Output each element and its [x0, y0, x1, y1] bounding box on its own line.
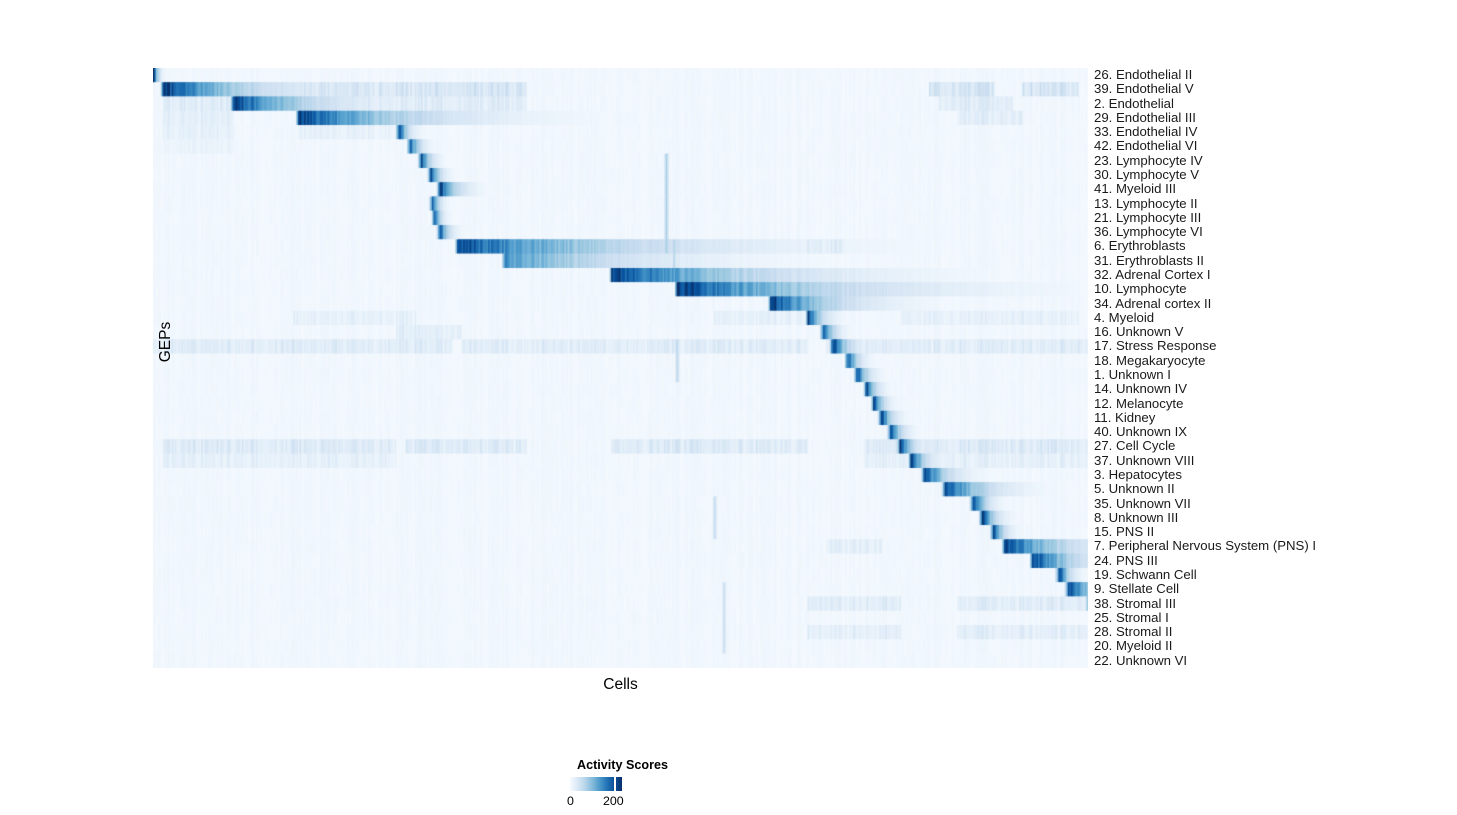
colorbar-wrap: 0 200 — [570, 777, 622, 791]
row-label: 36. Lymphocyte VI — [1094, 225, 1203, 239]
row-label: 32. Adrenal Cortex I — [1094, 268, 1211, 282]
colorbar-tick-low — [570, 777, 572, 791]
row-label: 20. Myeloid II — [1094, 639, 1172, 653]
row-label: 15. PNS II — [1094, 525, 1154, 539]
row-label: 27. Cell Cycle — [1094, 439, 1175, 453]
heatmap-canvas — [153, 68, 1088, 668]
row-label: 6. Erythroblasts — [1094, 239, 1186, 253]
x-axis-label: Cells — [153, 676, 1088, 694]
row-label: 14. Unknown IV — [1094, 382, 1187, 396]
row-label: 35. Unknown VII — [1094, 497, 1191, 511]
row-label: 34. Adrenal cortex II — [1094, 297, 1211, 311]
row-label: 17. Stress Response — [1094, 339, 1216, 353]
row-label: 5. Unknown II — [1094, 482, 1175, 496]
row-label: 1. Unknown I — [1094, 368, 1171, 382]
row-label: 22. Unknown VI — [1094, 654, 1187, 668]
row-label: 10. Lymphocyte — [1094, 282, 1187, 296]
row-label: 21. Lymphocyte III — [1094, 211, 1201, 225]
row-label: 13. Lymphocyte II — [1094, 197, 1198, 211]
row-label: 16. Unknown V — [1094, 325, 1183, 339]
row-label: 4. Myeloid — [1094, 311, 1154, 325]
colorbar-ticklabel-low: 0 — [567, 794, 574, 808]
row-label: 19. Schwann Cell — [1094, 568, 1197, 582]
colorbar-tick-high — [614, 777, 616, 791]
row-label: 2. Endothelial — [1094, 97, 1174, 111]
row-label: 29. Endothelial III — [1094, 111, 1196, 125]
row-label: 37. Unknown VIII — [1094, 454, 1194, 468]
row-label: 33. Endothelial IV — [1094, 125, 1197, 139]
colorbar-legend: Activity Scores 0 200 — [520, 758, 760, 814]
row-label: 39. Endothelial V — [1094, 82, 1194, 96]
row-label: 11. Kidney — [1094, 411, 1155, 425]
row-label: 41. Myeloid III — [1094, 182, 1176, 196]
heatmap-plot-area — [153, 68, 1088, 668]
row-label: 31. Erythroblasts II — [1094, 254, 1204, 268]
row-label: 30. Lymphocyte V — [1094, 168, 1199, 182]
row-label: 18. Megakaryocyte — [1094, 354, 1205, 368]
row-label: 7. Peripheral Nervous System (PNS) I — [1094, 539, 1316, 553]
y-axis-label: GEPs — [156, 302, 176, 382]
colorbar-ticklabel-high: 200 — [603, 794, 624, 808]
row-label: 28. Stromal II — [1094, 625, 1172, 639]
legend-title: Activity Scores — [520, 758, 725, 772]
row-label-list: 26. Endothelial II39. Endothelial V2. En… — [1094, 68, 1454, 668]
row-label: 24. PNS III — [1094, 554, 1158, 568]
row-label: 12. Melanocyte — [1094, 397, 1183, 411]
row-label: 9. Stellate Cell — [1094, 582, 1179, 596]
row-label: 40. Unknown IX — [1094, 425, 1187, 439]
row-label: 26. Endothelial II — [1094, 68, 1192, 82]
heatmap-figure: GEPs Cells 26. Endothelial II39. Endothe… — [0, 0, 1457, 815]
row-label: 25. Stromal I — [1094, 611, 1169, 625]
row-label: 38. Stromal III — [1094, 597, 1176, 611]
row-label: 23. Lymphocyte IV — [1094, 154, 1203, 168]
row-label: 3. Hepatocytes — [1094, 468, 1182, 482]
row-label: 42. Endothelial VI — [1094, 139, 1197, 153]
row-label: 8. Unknown III — [1094, 511, 1178, 525]
